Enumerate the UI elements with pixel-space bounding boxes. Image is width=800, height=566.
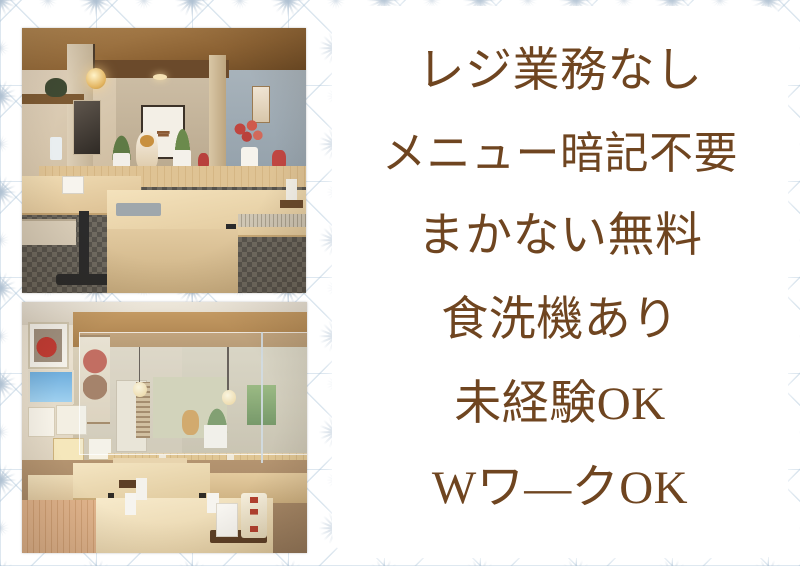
benefits-card: レジ業務なし メニュー暗記不要 まかない無料 食洗機あり 未経験OK Wワ―クO…	[332, 6, 788, 558]
benefit-line-6: Wワ―クOK	[432, 464, 688, 513]
benefit-line-2: メニュー暗記不要	[382, 131, 738, 177]
benefit-line-4: 食洗機あり	[441, 296, 679, 345]
restaurant-interior-dining-room-photo	[22, 28, 306, 293]
benefit-line-3: まかない無料	[418, 212, 703, 261]
benefit-line-5: 未経験OK	[454, 380, 665, 429]
benefit-line-1: レジ業務なし	[418, 47, 703, 96]
pendant-lamp-icon	[86, 68, 106, 89]
benefits-list: レジ業務なし メニュー暗記不要 まかない無料 食洗機あり 未経験OK Wワ―クO…	[332, 6, 788, 558]
poster-root: レジ業務なし メニュー暗記不要 まかない無料 食洗機あり 未経験OK Wワ―クO…	[0, 0, 800, 566]
restaurant-interior-table-seating-photo	[22, 302, 307, 553]
